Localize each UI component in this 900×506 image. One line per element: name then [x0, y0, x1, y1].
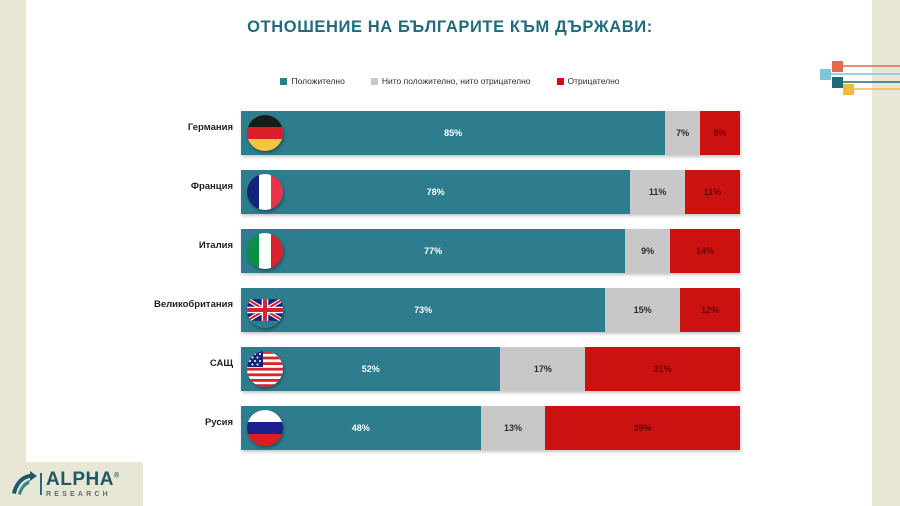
row-label-germany: Германия	[83, 122, 233, 133]
legend-item-negative: Отрицателно	[557, 76, 620, 86]
segment-positive: 78%	[241, 170, 630, 214]
segment-neutral: 9%	[625, 229, 670, 273]
legend-swatch-negative	[557, 78, 564, 85]
chart-row: Франция 78% 11% 11%	[0, 164, 900, 223]
segment-neutral: 15%	[605, 288, 680, 332]
row-label-france: Франция	[83, 181, 233, 192]
legend-label-negative: Отрицателно	[568, 76, 620, 86]
alpha-mark-icon	[8, 469, 38, 499]
chart-row: САЩ 52% 17% 31%	[0, 341, 900, 400]
chart-row: Германия 85% 7% 8%	[0, 105, 900, 164]
logo-alpha-text: ALPHA®	[46, 470, 120, 489]
logo-divider	[40, 473, 42, 495]
logo-alpha-label: ALPHA	[46, 469, 114, 490]
corner-decoration	[812, 58, 900, 100]
bar-russia: 48% 13% 39%	[241, 406, 740, 450]
legend-item-positive: Положително	[280, 76, 344, 86]
stacked-bar-chart: Германия 85% 7% 8% Франция 78% 11% 11%	[0, 105, 900, 459]
legend-item-neutral: Нито положително, нито отрицателно	[371, 76, 531, 86]
segment-positive: 77%	[241, 229, 625, 273]
legend-swatch-positive	[280, 78, 287, 85]
legend-swatch-neutral	[371, 78, 378, 85]
segment-negative: 39%	[545, 406, 740, 450]
chart-legend: Положително Нито положително, нито отриц…	[150, 76, 750, 86]
segment-negative: 14%	[670, 229, 740, 273]
segment-neutral: 11%	[630, 170, 685, 214]
segment-negative: 8%	[700, 111, 740, 155]
logo-research-label: RESEARCH	[46, 491, 120, 498]
bar-usa: 52% 17% 31%	[241, 347, 740, 391]
segment-neutral: 13%	[481, 406, 546, 450]
germany-flag-icon	[247, 115, 283, 151]
legend-label-neutral: Нито положително, нито отрицателно	[382, 76, 531, 86]
chart-row: Русия 48% 13% 39%	[0, 400, 900, 459]
italy-flag-icon	[247, 233, 283, 269]
france-flag-icon	[247, 174, 283, 210]
bar-uk: 73% 15% 12%	[241, 288, 740, 332]
logo-registered-mark: ®	[114, 473, 120, 480]
usa-flag-icon	[247, 351, 283, 387]
segment-neutral: 7%	[665, 111, 700, 155]
row-label-italy: Италия	[83, 240, 233, 251]
segment-negative: 31%	[585, 347, 740, 391]
segment-positive: 85%	[241, 111, 665, 155]
logo-wordmark: ALPHA® RESEARCH	[46, 470, 120, 498]
row-label-uk: Великобритания	[83, 299, 233, 310]
slide-title: ОТНОШЕНИЕ НА БЪЛГАРИТЕ КЪМ ДЪРЖАВИ:	[150, 18, 750, 37]
legend-label-positive: Положително	[291, 76, 344, 86]
uk-flag-icon	[247, 292, 283, 328]
segment-positive: 73%	[241, 288, 605, 332]
russia-flag-icon	[247, 410, 283, 446]
row-label-usa: САЩ	[83, 358, 233, 369]
bar-italy: 77% 9% 14%	[241, 229, 740, 273]
alpha-research-logo: ALPHA® RESEARCH	[0, 462, 143, 506]
bar-france: 78% 11% 11%	[241, 170, 740, 214]
segment-negative: 11%	[685, 170, 740, 214]
bar-germany: 85% 7% 8%	[241, 111, 740, 155]
segment-negative: 12%	[680, 288, 740, 332]
chart-row: Великобритания 73% 15% 12%	[0, 282, 900, 341]
slide-canvas: ОТНОШЕНИЕ НА БЪЛГАРИТЕ КЪМ ДЪРЖАВИ: Поло…	[0, 0, 900, 506]
chart-row: Италия 77% 9% 14%	[0, 223, 900, 282]
row-label-russia: Русия	[83, 417, 233, 428]
segment-neutral: 17%	[500, 347, 585, 391]
